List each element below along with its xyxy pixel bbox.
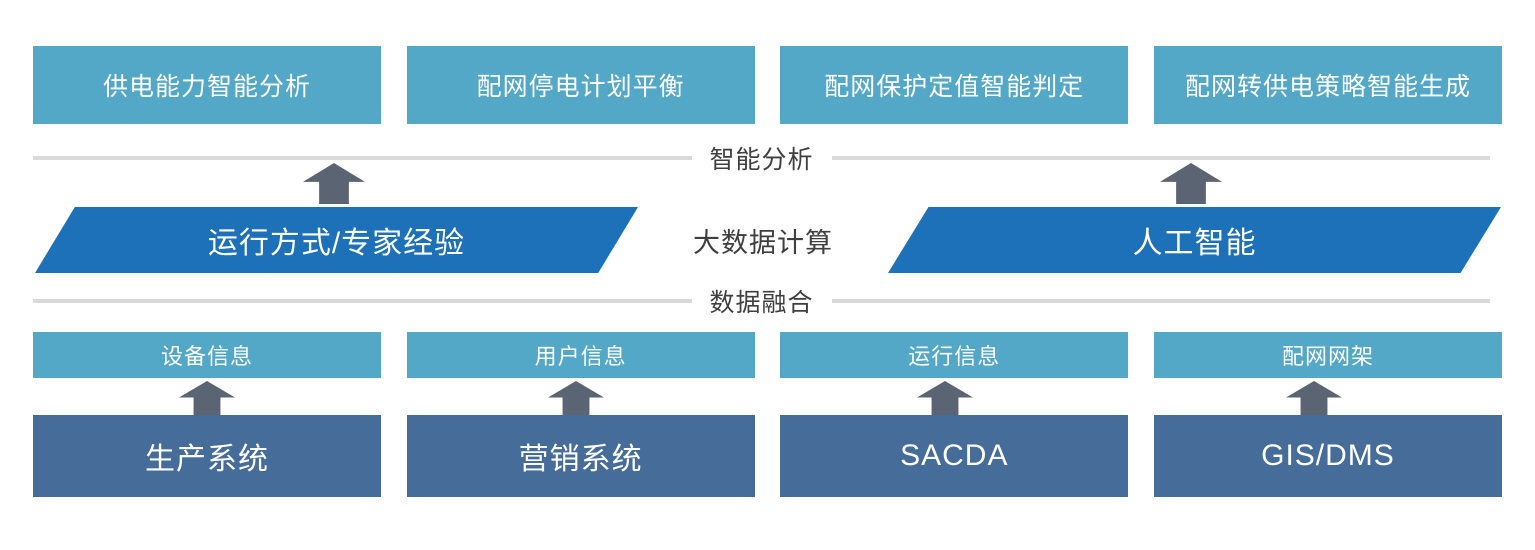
info-band-user-information[interactable]: 用户信息 <box>407 332 755 378</box>
compute-block-artificial-intelligence[interactable]: 人工智能 <box>888 207 1501 273</box>
system-box-label: GIS/DMS <box>1261 439 1395 473</box>
divider-rule-left <box>33 299 692 303</box>
info-band-label: 用户信息 <box>535 339 627 371</box>
divider-label-intelligent-analysis: 智能分析 <box>710 140 814 176</box>
analysis-card-label: 配网转供电策略智能生成 <box>1185 67 1471 103</box>
compute-layer-label-text: 大数据计算 <box>693 221 833 260</box>
system-box-label: SACDA <box>900 439 1008 473</box>
system-box-gis-dms[interactable]: GIS/DMS <box>1154 415 1502 497</box>
system-box-label: 生产系统 <box>145 434 269 478</box>
compute-block-label: 人工智能 <box>1133 218 1257 262</box>
info-band-operation-information[interactable]: 运行信息 <box>780 332 1128 378</box>
analysis-card-protection-setting[interactable]: 配网保护定值智能判定 <box>780 46 1128 124</box>
info-band-label: 设备信息 <box>161 339 253 371</box>
analysis-card-row: 供电能力智能分析 配网停电计划平衡 配网保护定值智能判定 配网转供电策略智能生成 <box>33 46 1502 124</box>
source-column-grid-structure: 配网网架 GIS/DMS <box>1154 332 1502 497</box>
source-column-device: 设备信息 生产系统 <box>33 332 381 497</box>
compute-block-label: 运行方式/专家经验 <box>208 218 465 262</box>
analysis-card-transfer-strategy[interactable]: 配网转供电策略智能生成 <box>1154 46 1502 124</box>
compute-block-expert-experience[interactable]: 运行方式/专家经验 <box>35 207 638 273</box>
info-band-device-information[interactable]: 设备信息 <box>33 332 381 378</box>
divider-data-fusion: 数据融合 <box>33 283 1490 319</box>
divider-rule-left <box>33 156 692 160</box>
divider-label-data-fusion: 数据融合 <box>710 283 814 319</box>
source-column-user: 用户信息 营销系统 <box>407 332 755 497</box>
divider-intelligent-analysis: 智能分析 <box>33 140 1490 176</box>
source-column-row: 设备信息 生产系统 用户信息 营销系统 运行信息 SACDA 配网网架 <box>33 332 1502 497</box>
system-box-label: 营销系统 <box>519 434 643 478</box>
info-band-label: 配网网架 <box>1282 339 1374 371</box>
source-column-operation: 运行信息 SACDA <box>780 332 1128 497</box>
analysis-card-power-supply-capability[interactable]: 供电能力智能分析 <box>33 46 381 124</box>
system-box-production-system[interactable]: 生产系统 <box>33 415 381 497</box>
system-box-sacda[interactable]: SACDA <box>780 415 1128 497</box>
info-band-label: 运行信息 <box>908 339 1000 371</box>
architecture-diagram: 供电能力智能分析 配网停电计划平衡 配网保护定值智能判定 配网转供电策略智能生成… <box>0 0 1535 550</box>
divider-rule-right <box>832 299 1491 303</box>
compute-layer-label-big-data: 大数据计算 <box>638 207 888 273</box>
analysis-card-label: 供电能力智能分析 <box>103 67 311 103</box>
divider-rule-right <box>832 156 1491 160</box>
analysis-card-label: 配网停电计划平衡 <box>477 67 685 103</box>
analysis-card-outage-plan-balance[interactable]: 配网停电计划平衡 <box>407 46 755 124</box>
info-band-distribution-grid-structure[interactable]: 配网网架 <box>1154 332 1502 378</box>
system-box-marketing-system[interactable]: 营销系统 <box>407 415 755 497</box>
analysis-card-label: 配网保护定值智能判定 <box>824 67 1084 103</box>
